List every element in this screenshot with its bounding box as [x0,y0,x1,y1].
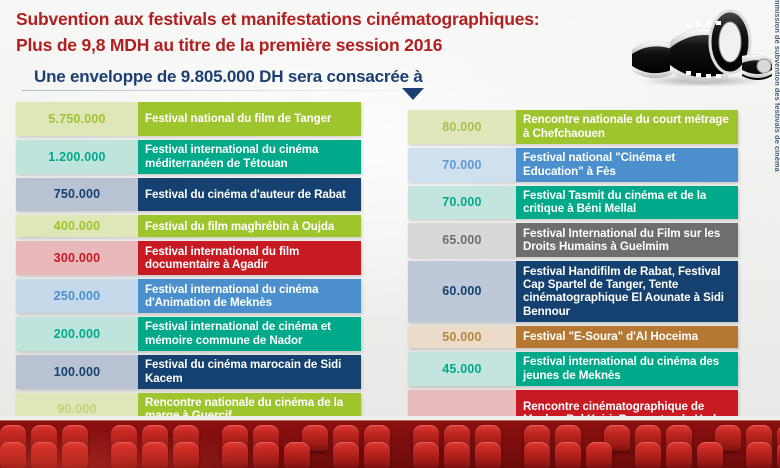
seat [222,442,248,468]
seat [253,442,279,468]
seat [364,442,390,468]
seat-group [635,442,728,468]
header: Subvention aux festivals et manifestatio… [16,6,636,58]
festival-label: Festival international de cinéma et mémo… [138,317,361,351]
seat [333,442,359,468]
seat [31,442,57,468]
festival-row: 400.000Festival du film maghrébin à Oujd… [16,215,361,237]
festival-amount: 750.000 [16,178,138,212]
seat [173,442,199,468]
festival-amount: 70.000 [408,148,516,182]
festival-label: Festival international du film documenta… [138,241,361,275]
festival-amount: 80.000 [408,110,516,144]
source-credit: Source : Commission de subvention des fe… [773,0,780,196]
seat-group [524,442,617,468]
festival-label: Festival Handifilm de Rabat, Festival Ca… [516,261,738,322]
festival-list-right: 80.000Rencontre nationale du court métra… [408,110,738,468]
page-title-line-2: Plus de 9,8 MDH au titre de la première … [16,32,636,58]
film-reel-image [626,2,776,86]
festival-amount: 70.000 [408,186,516,220]
seat [413,442,439,468]
festival-label: Festival du cinéma marocain de Sidi Kace… [138,355,361,389]
seat-group [222,442,315,468]
down-arrow-icon [402,88,424,100]
festival-label: Festival "E-Soura" d'Al Hoceima [516,326,738,348]
festival-row: 200.000Festival international de cinéma … [16,317,361,351]
festival-label: Festival national "Cinéma et Education" … [516,148,738,182]
festival-row: 300.000Festival international du film do… [16,241,361,275]
cinema-seats [0,416,780,468]
festival-row: 60.000Festival Handifilm de Rabat, Festi… [408,261,738,322]
festival-label: Festival international du cinéma d'Anima… [138,279,361,313]
festival-label: Festival International du Film sur les D… [516,223,738,257]
seat [475,442,501,468]
seat [142,442,168,468]
seat-group [0,442,93,468]
seat [444,442,470,468]
seat [524,442,550,468]
seat-row [0,442,780,468]
festival-amount: 400.000 [16,215,138,237]
festival-row: 1.200.000Festival international du ciném… [16,140,361,174]
festival-amount: 250.000 [16,279,138,313]
festival-label: Festival international du cinéma des jeu… [516,352,738,386]
festival-list-left: 5.750.000Festival national du film de Ta… [16,102,361,468]
festival-row: 70.000Festival Tasmit du cinéma et de la… [408,186,738,220]
seat [697,442,723,468]
festival-row: 65.000Festival International du Film sur… [408,223,738,257]
seat [62,442,88,468]
seat [111,442,137,468]
festival-amount: 200.000 [16,317,138,351]
festival-row: 250.000Festival international du cinéma … [16,279,361,313]
festival-row: 50.000Festival "E-Soura" d'Al Hoceima [408,326,738,348]
seat [0,442,26,468]
festival-label: Festival international du cinéma méditer… [138,140,361,174]
festival-row: 80.000Rencontre nationale du court métra… [408,110,738,144]
seat-group [746,442,780,468]
festival-row: 100.000Festival du cinéma marocain de Si… [16,355,361,389]
seat [746,442,772,468]
festival-row: 750.000Festival du cinéma d'auteur de Ra… [16,178,361,212]
festival-amount: 45.000 [408,352,516,386]
festival-row: 45.000Festival international du cinéma d… [408,352,738,386]
seat [586,442,612,468]
seat-group [111,442,204,468]
festival-amount: 60.000 [408,261,516,322]
seat-group [413,442,506,468]
page-title-line-1: Subvention aux festivals et manifestatio… [16,6,636,32]
festival-label: Festival Tasmit du cinéma et de la criti… [516,186,738,220]
festival-row: 5.750.000Festival national du film de Ta… [16,102,361,136]
seat [635,442,661,468]
subtitle: Une enveloppe de 9.805.000 DH sera consa… [34,66,423,88]
seat-group [333,442,395,468]
festival-amount: 65.000 [408,223,516,257]
infographic-page: Subvention aux festivals et manifestatio… [0,0,780,468]
festival-amount: 300.000 [16,241,138,275]
festival-label: Festival national du film de Tanger [138,102,361,136]
festival-label: Rencontre nationale du court métrage à C… [516,110,738,144]
festival-amount: 1.200.000 [16,140,138,174]
seat [666,442,692,468]
festival-row: 70.000Festival national "Cinéma et Educa… [408,148,738,182]
festival-amount: 5.750.000 [16,102,138,136]
seat [284,442,310,468]
festival-amount: 100.000 [16,355,138,389]
subtitle-divider [22,90,452,91]
festival-amount: 50.000 [408,326,516,348]
festival-label: Festival du film maghrébin à Oujda [138,215,361,237]
festival-label: Festival du cinéma d'auteur de Rabat [138,178,361,212]
seat [555,442,581,468]
